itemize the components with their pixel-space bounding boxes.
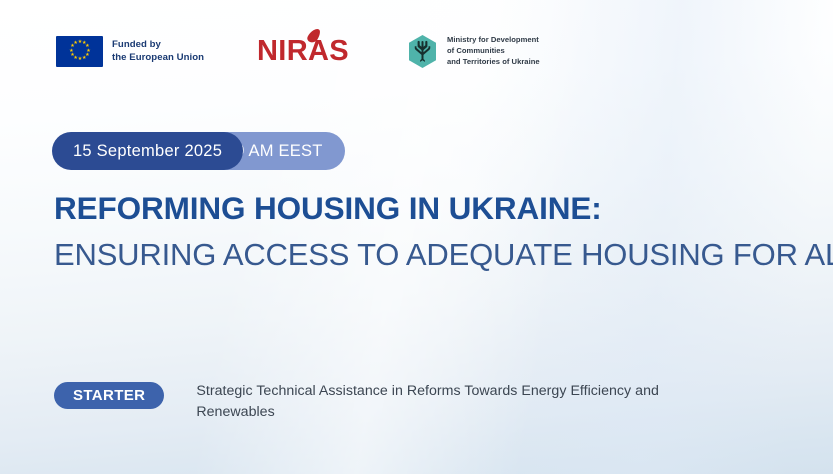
eu-text-line1: Funded by bbox=[112, 39, 204, 52]
eu-star-icon: ★ bbox=[70, 54, 74, 58]
ministry-text-line2: of Communities bbox=[447, 46, 540, 57]
niras-wordmark: NIRAS bbox=[257, 37, 349, 66]
eu-star-icon: ★ bbox=[78, 58, 82, 62]
niras-logo: NIRAS bbox=[257, 37, 349, 66]
event-headline: REFORMING HOUSING IN UKRAINE: bbox=[54, 192, 602, 225]
event-datetime-badge: 10:00 AM EEST 15 September 2025 bbox=[52, 132, 243, 170]
eu-funding-logo: ★★★★★★★★★★★★ Funded by the European Unio… bbox=[56, 36, 204, 67]
logo-row: ★★★★★★★★★★★★ Funded by the European Unio… bbox=[56, 34, 540, 69]
ministry-text-line3: and Territories of Ukraine bbox=[447, 57, 540, 68]
ministry-logo: Ministry for Development of Communities … bbox=[407, 34, 540, 69]
project-description: Strategic Technical Assistance in Reform… bbox=[196, 381, 666, 422]
ukrainian-tryzub-hexagon-icon bbox=[407, 34, 438, 69]
european-union-flag-icon: ★★★★★★★★★★★★ bbox=[56, 36, 103, 67]
event-subheadline: ENSURING ACCESS TO ADEQUATE HOUSING FOR … bbox=[54, 238, 833, 272]
eu-text-line2: the European Union bbox=[112, 52, 204, 65]
eu-star-icon: ★ bbox=[73, 42, 77, 46]
eu-star-icon: ★ bbox=[82, 57, 86, 61]
eu-star-icon: ★ bbox=[69, 50, 73, 54]
starter-badge: STARTER bbox=[54, 382, 164, 409]
event-date-label: 15 September 2025 bbox=[73, 142, 222, 161]
ministry-text-line1: Ministry for Development bbox=[447, 35, 540, 46]
event-banner: ★★★★★★★★★★★★ Funded by the European Unio… bbox=[0, 0, 833, 474]
project-footer: STARTER Strategic Technical Assistance i… bbox=[54, 381, 666, 422]
eu-star-icon: ★ bbox=[78, 41, 82, 45]
starter-badge-label: STARTER bbox=[73, 387, 145, 404]
event-date-pill: 15 September 2025 bbox=[52, 132, 243, 170]
ministry-text: Ministry for Development of Communities … bbox=[447, 35, 540, 67]
eu-funding-text: Funded by the European Union bbox=[112, 39, 204, 64]
